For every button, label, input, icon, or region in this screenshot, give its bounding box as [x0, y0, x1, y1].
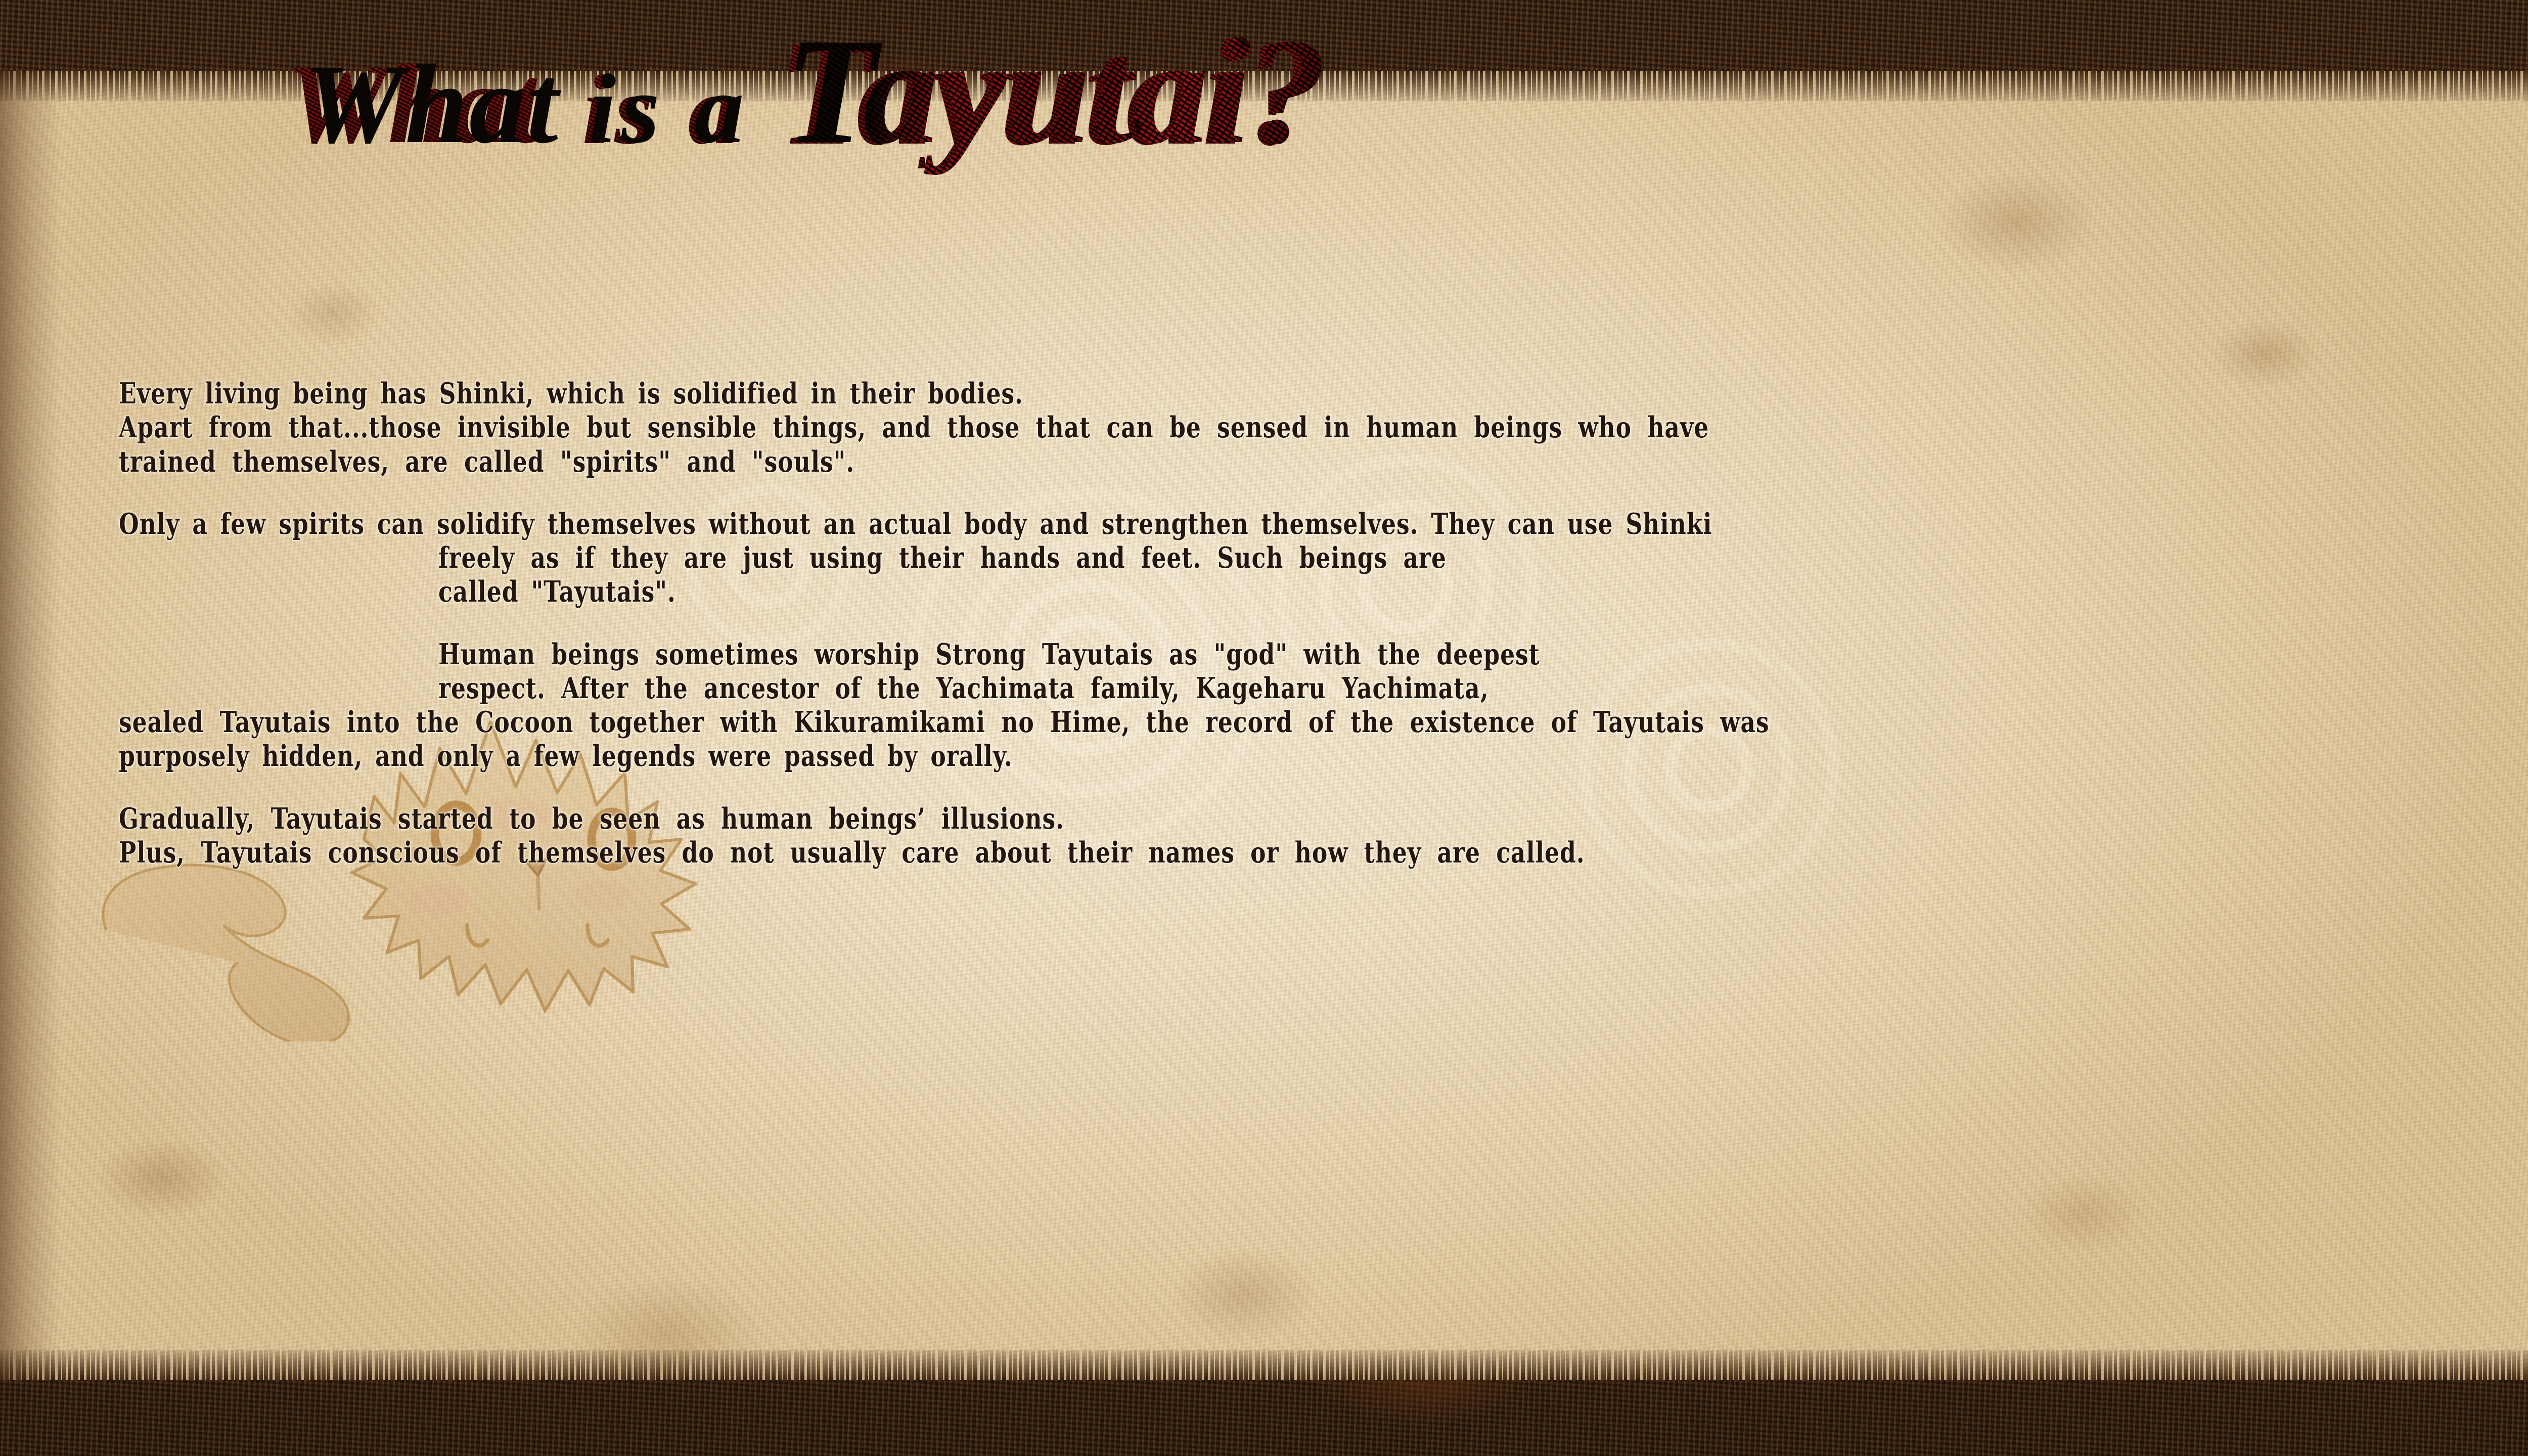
- paper-sheet: [0, 71, 2528, 1380]
- paper-torn-edge-bottom: [0, 1350, 2528, 1381]
- screen: What What is a is a Tayutai? Tayutai?: [0, 0, 2528, 1456]
- paper-torn-edge-top: [0, 70, 2528, 101]
- paper-left-edge: [0, 71, 61, 1380]
